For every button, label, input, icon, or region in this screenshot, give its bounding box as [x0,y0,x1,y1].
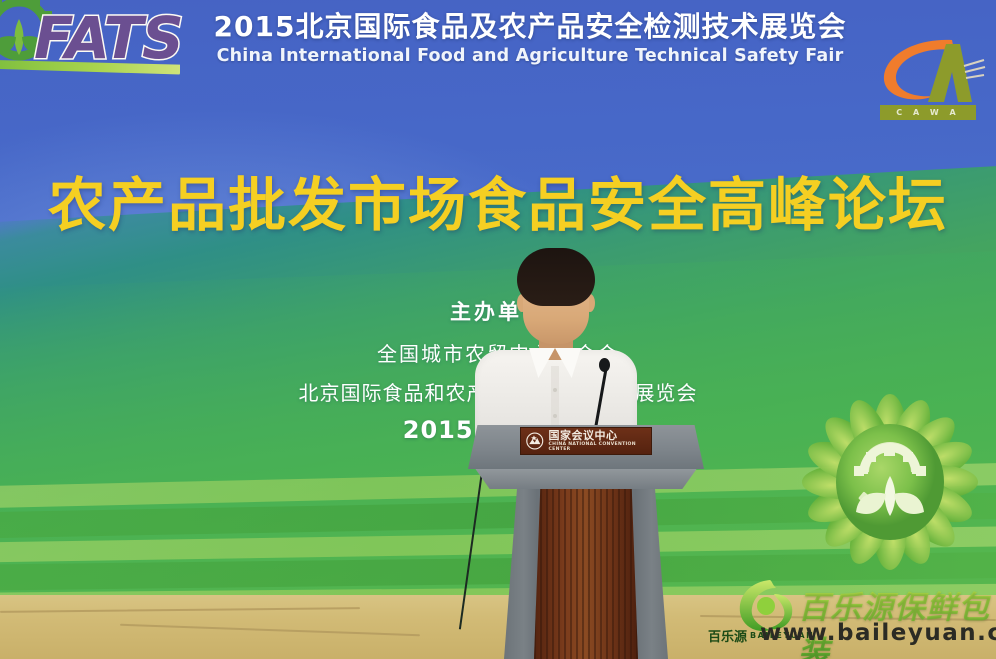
speaker-figure [455,248,655,448]
speaker-shirt-button [553,388,557,392]
microphone-head-icon [599,358,610,372]
watermark-url: www.baileyuan.cn [760,620,996,646]
cawa-logo-bar: C A W A [880,105,976,120]
plaque-title-cn: 国家会议中心 [549,430,646,441]
podium-wood-panel [534,489,638,659]
screenshot-canvas: FATS 2015北京国际食品及农产品安全检测技术展览会 China Inter… [0,0,996,659]
cawa-mark-icon [868,32,986,110]
floor-seam [0,607,360,613]
cncc-mountain-icon [526,431,544,451]
header-title-cn: 2015北京国际食品及农产品安全检测技术展览会 [190,10,870,43]
podium: 国家会议中心 CHINA NATIONAL CONVENTION CENTER [468,425,704,659]
fats-logo: FATS [0,0,178,104]
watermark-badge-cn: 百乐源 [708,626,747,645]
backdrop-header: 2015北京国际食品及农产品安全检测技术展览会 China Internatio… [190,10,870,66]
speaker-hair [517,248,595,306]
forum-main-title: 农产品批发市场食品安全高峰论坛 [0,176,996,234]
cncc-plaque: 国家会议中心 CHINA NATIONAL CONVENTION CENTER [520,427,652,455]
cawa-logo: C A W A [868,32,986,124]
podium-lip [474,467,698,489]
watermark: 百乐源保鲜包装 百乐源 BAILEYUAN www.baileyuan.cn [700,576,996,654]
cawa-logo-label: C A W A [896,108,959,117]
plaque-title-en: CHINA NATIONAL CONVENTION CENTER [549,443,646,452]
header-title-en: China International Food and Agriculture… [190,46,870,66]
floor-seam [120,624,420,636]
speaker-shirt-button [553,414,557,418]
